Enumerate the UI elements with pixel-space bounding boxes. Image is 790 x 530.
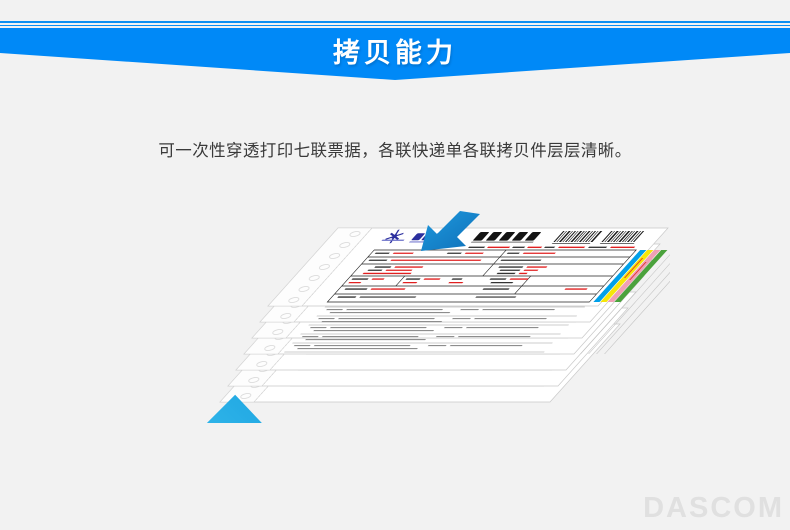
page-title: 拷贝能力 (0, 28, 790, 72)
header-rule-thin (0, 25, 790, 26)
dascom-logo-watermark: DASCOM (643, 492, 784, 525)
product-feature-page: 拷贝能力 可一次性穿透打印七联票据，各联快递单各联拷贝件层层清晰。 (0, 0, 790, 530)
page-header: 拷贝能力 (0, 0, 790, 100)
header-rule-thick (0, 21, 790, 23)
feature-caption: 可一次性穿透打印七联票据，各联快递单各联拷贝件层层清晰。 (0, 137, 790, 161)
illustration-seven-ply-stack (150, 198, 670, 423)
ply-stack (220, 228, 670, 402)
